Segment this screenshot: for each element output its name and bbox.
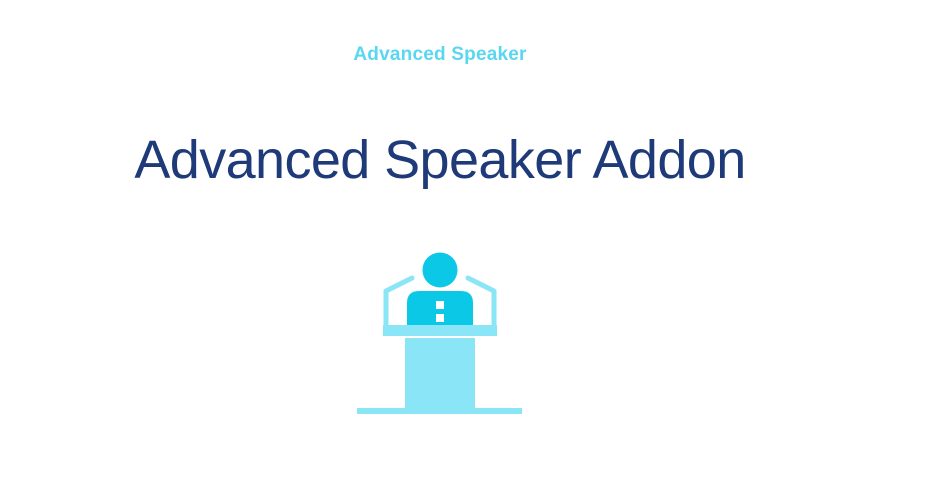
speaker-at-podium-icon <box>350 240 530 425</box>
eyebrow-label: Advanced Speaker <box>0 42 880 68</box>
podium-column-icon <box>405 338 475 410</box>
torso-button-lower-icon <box>436 314 444 322</box>
page-title: Advanced Speaker Addon <box>0 128 880 192</box>
podium-desktop-icon <box>383 325 497 336</box>
ground-line-icon <box>357 408 522 414</box>
head-circle-icon <box>423 253 458 288</box>
page-root: Advanced Speaker Advanced Speaker Addon <box>0 0 925 477</box>
torso-button-upper-icon <box>436 301 444 309</box>
